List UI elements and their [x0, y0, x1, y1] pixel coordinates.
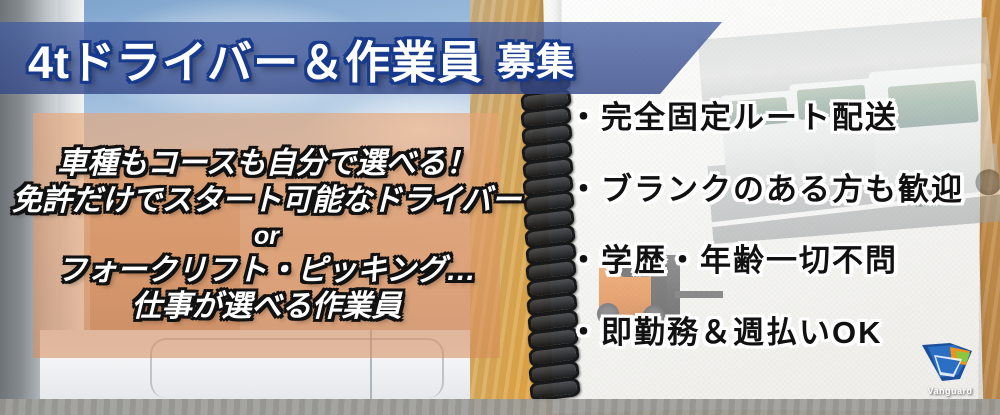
- bottom-edge-strip: [0, 399, 1000, 415]
- job-ad-banner: 4tドライバー＆作業員 募集 車種もコースも自分で選べる！ 免許だけでスタート可…: [0, 0, 1000, 415]
- title-main-text: 4tドライバー＆作業員: [28, 26, 483, 91]
- vanguard-swoosh-icon: [920, 341, 978, 383]
- benefit-item-3: ・学歴・年齢一切不問: [568, 235, 988, 280]
- benefit-item-1: ・完全固定ルート配送: [568, 92, 988, 137]
- company-logo: Vanguard Logistics: [908, 341, 992, 407]
- benefit-item-2: ・ブランクのある方も歓迎: [568, 164, 988, 209]
- title-sub-text: 募集: [497, 31, 575, 86]
- copy-line-5: 仕事が選べる作業員: [132, 290, 402, 324]
- copy-line-1: 車種もコースも自分で選べる！: [57, 147, 476, 181]
- benefits-list: ・完全固定ルート配送 ・ブランクのある方も歓迎 ・学歴・年齢一切不問 ・即勤務＆…: [568, 92, 988, 352]
- page-title: 4tドライバー＆作業員 募集: [28, 25, 575, 91]
- copy-panel: 車種もコースも自分で選べる！ 免許だけでスタート可能なドライバー or フォーク…: [33, 113, 500, 358]
- copy-line-2: 免許だけでスタート可能なドライバー: [12, 184, 521, 218]
- copy-line-or: or: [254, 222, 279, 250]
- copy-line-4: フォークリフト・ピッキング…: [57, 254, 476, 288]
- logo-line-1: Vanguard: [908, 386, 992, 396]
